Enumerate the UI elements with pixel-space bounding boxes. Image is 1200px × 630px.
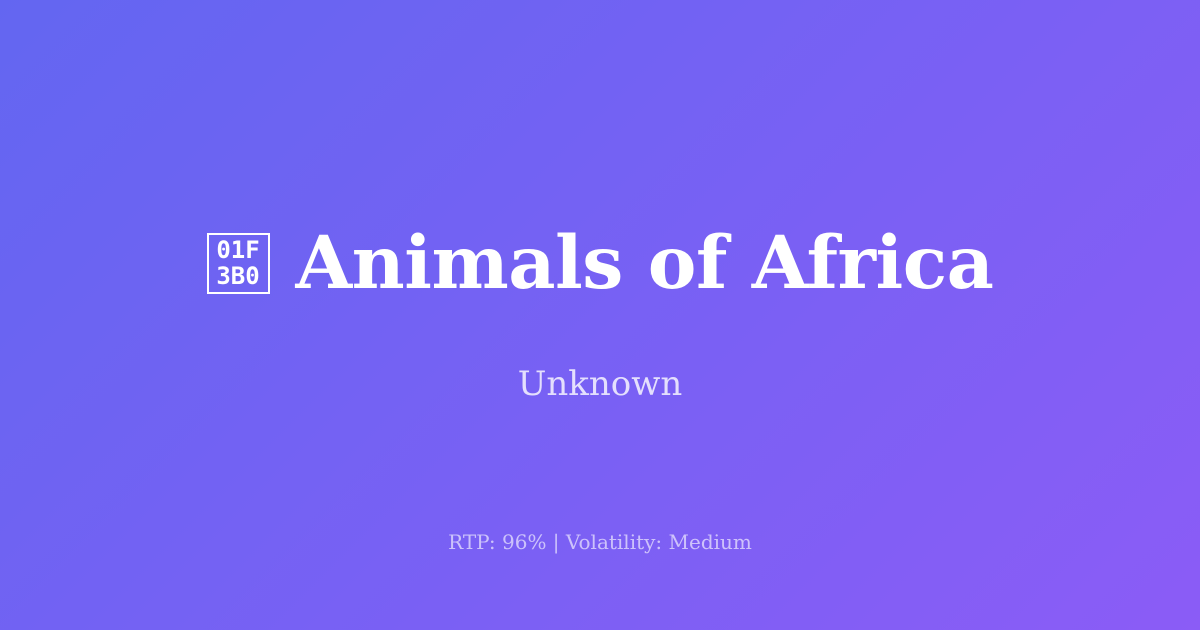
tofu-codepoint-row-bottom: 3B0 <box>216 263 259 289</box>
game-stats-line: RTP: 96% | Volatility: Medium <box>0 528 1200 556</box>
og-preview-card: 01F 3B0 Animals of Africa Unknown RTP: 9… <box>0 0 1200 630</box>
page-title: Animals of Africa <box>296 227 994 300</box>
tofu-codepoint-row-top: 01F <box>216 237 259 263</box>
provider-subtitle: Unknown <box>0 363 1200 406</box>
title-line: 01F 3B0 Animals of Africa <box>207 227 994 300</box>
slot-machine-emoji-tofu-icon: 01F 3B0 <box>207 233 270 294</box>
